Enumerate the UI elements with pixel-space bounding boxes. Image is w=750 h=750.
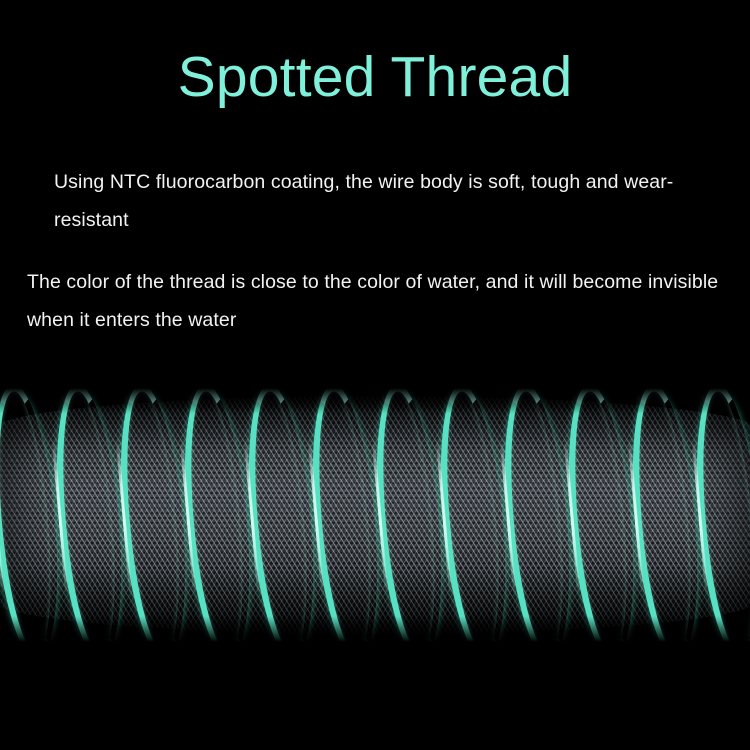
product-photo bbox=[0, 388, 750, 642]
page-title: Spotted Thread bbox=[0, 44, 750, 110]
carbon-fiber-rod bbox=[0, 396, 750, 634]
description-paragraph-1: Using NTC fluorocarbon coating, the wire… bbox=[54, 163, 709, 239]
description-paragraph-2: The color of the thread is close to the … bbox=[27, 263, 737, 339]
product-info-banner: Spotted Thread Using NTC fluorocarbon co… bbox=[0, 0, 750, 750]
